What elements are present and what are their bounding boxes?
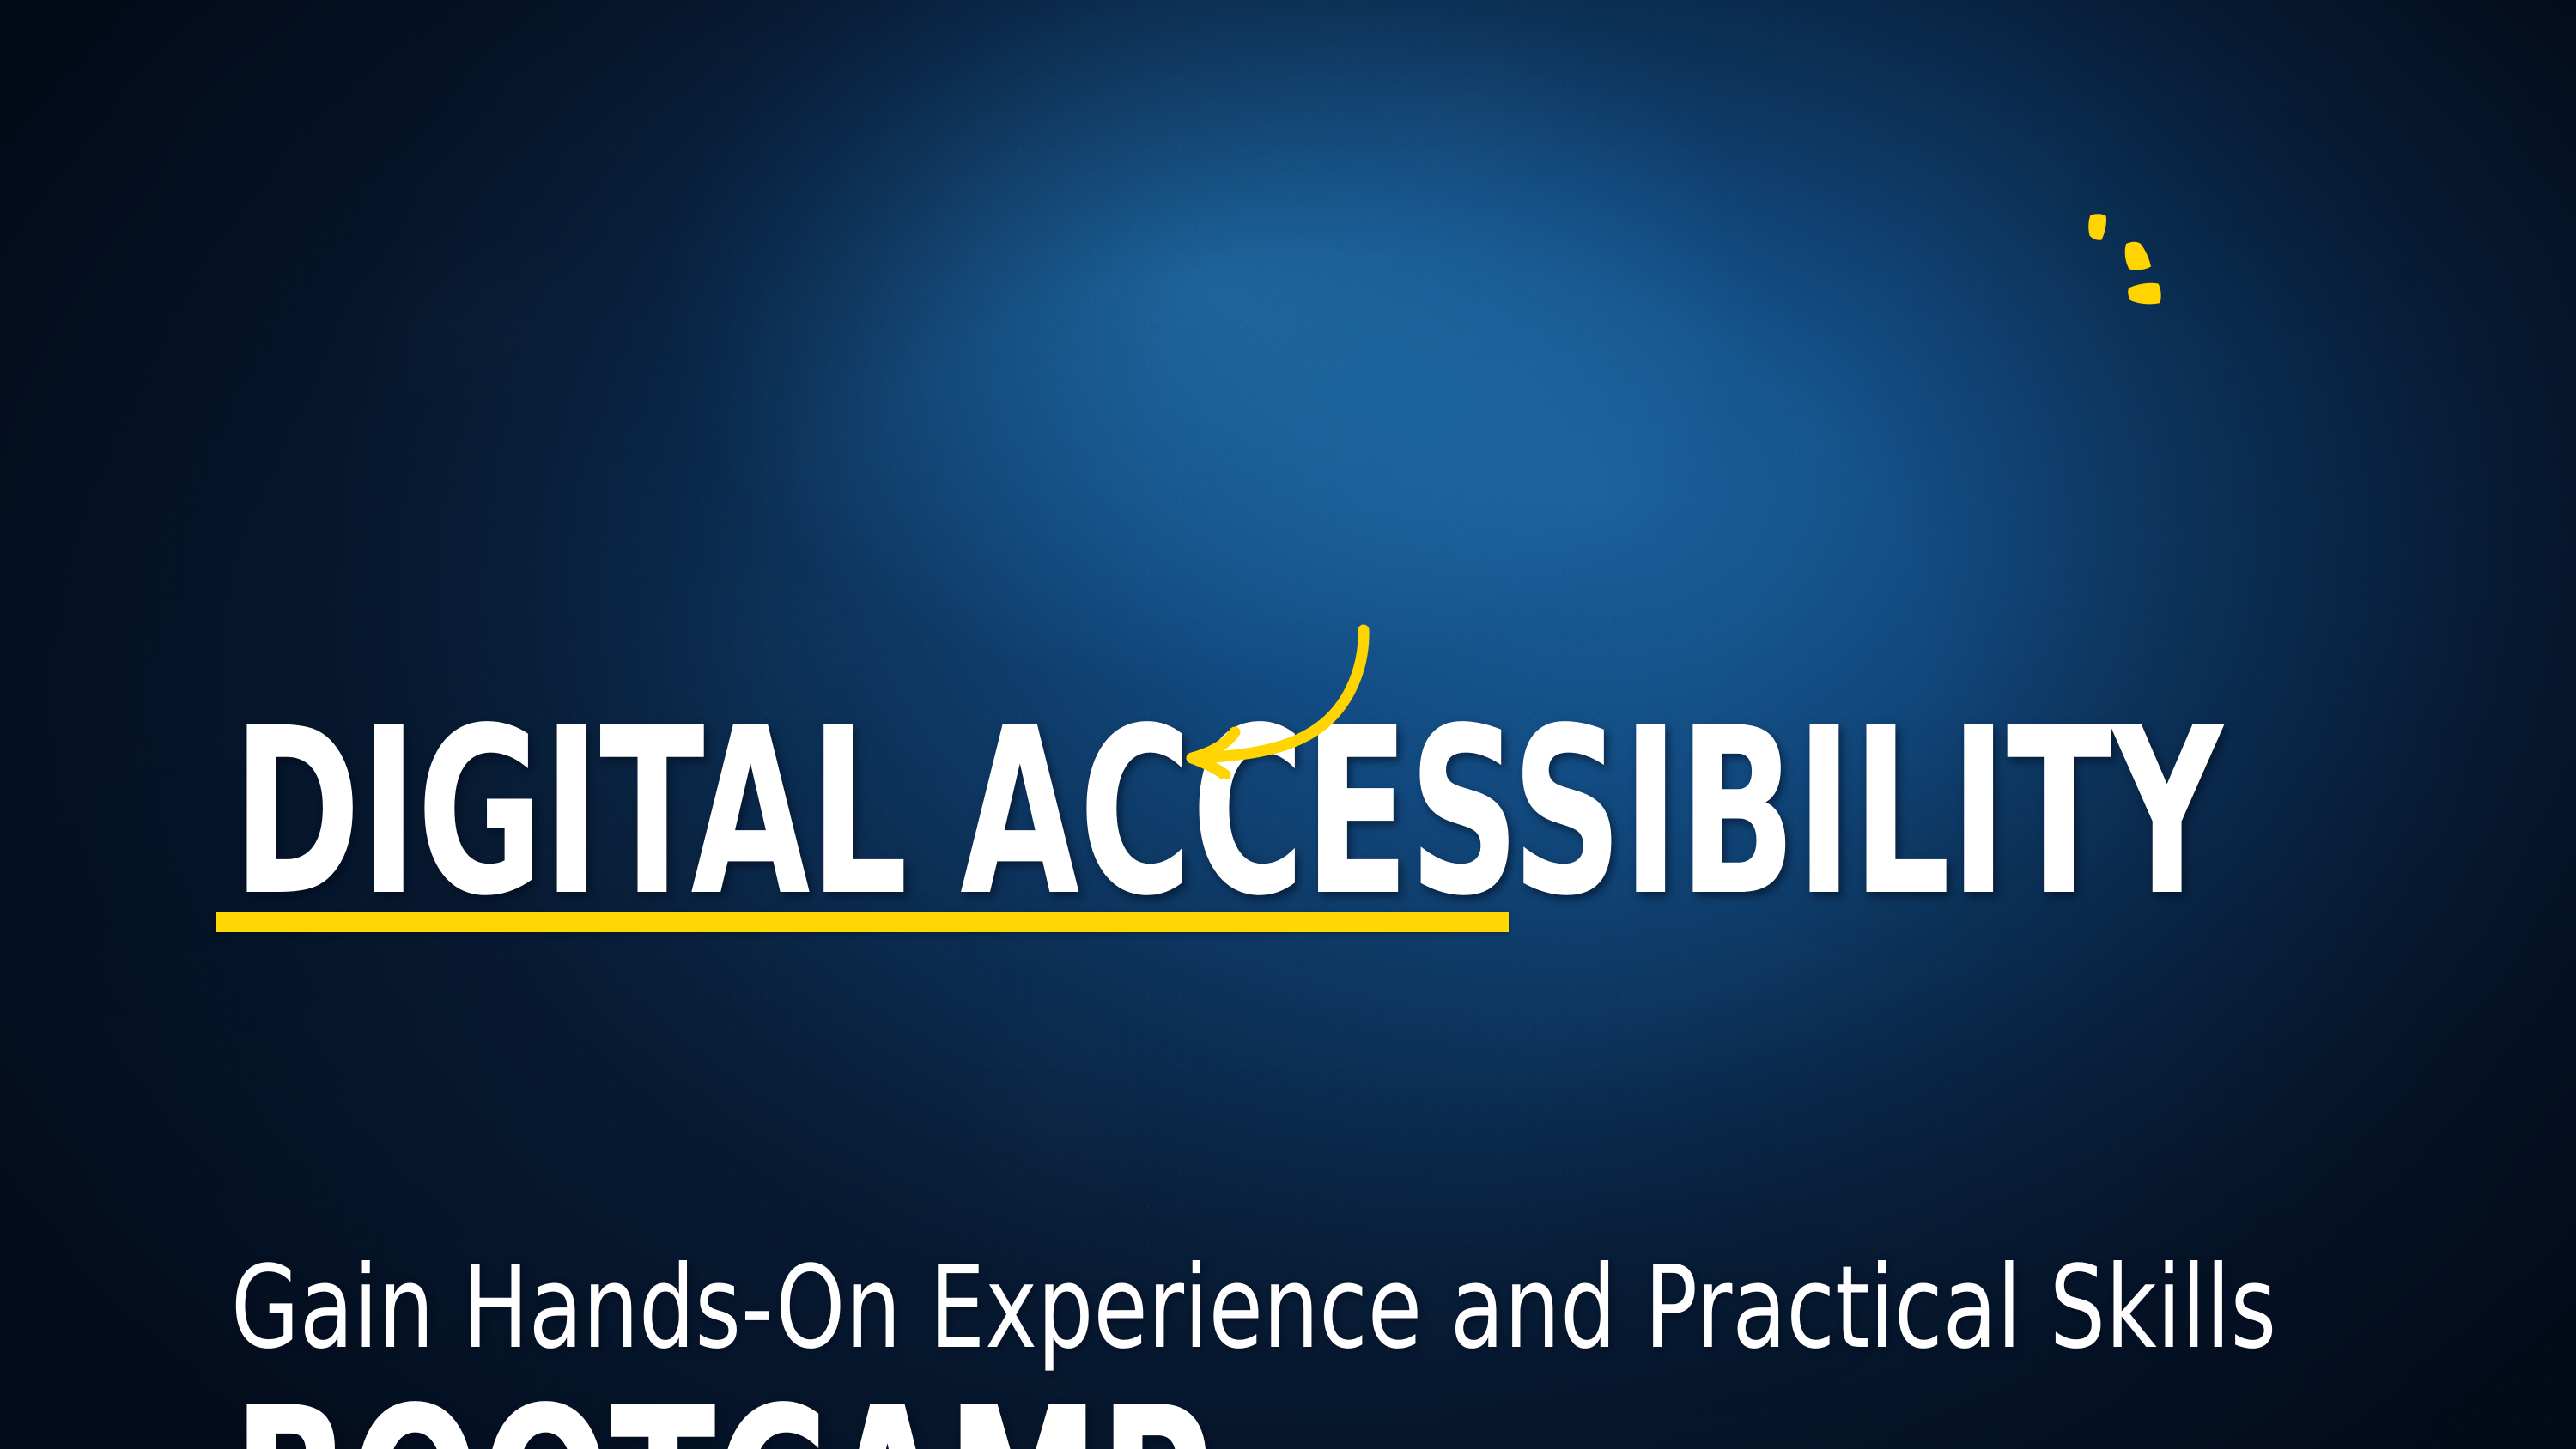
sparkle-wedge-3 xyxy=(2128,283,2160,305)
sparkle-wedge-1 xyxy=(2088,214,2106,239)
sparkle-burst-icon xyxy=(2076,203,2179,318)
subtitle-line-1: Gain Hands-On Experience and Practical S… xyxy=(231,1244,2276,1374)
slide-content: DIGITAL ACCESSIBILITY BOOTCAMP Gain Hand… xyxy=(0,0,2576,1449)
sparkle-wedge-2 xyxy=(2125,242,2151,270)
curved-arrow-icon xyxy=(1168,611,1382,779)
subtitle-text: Gain Hands-On Experience and Practical S… xyxy=(231,984,2276,1449)
yellow-divider-rule xyxy=(216,912,1509,932)
slide-canvas: DIGITAL ACCESSIBILITY BOOTCAMP Gain Hand… xyxy=(0,0,2576,1449)
